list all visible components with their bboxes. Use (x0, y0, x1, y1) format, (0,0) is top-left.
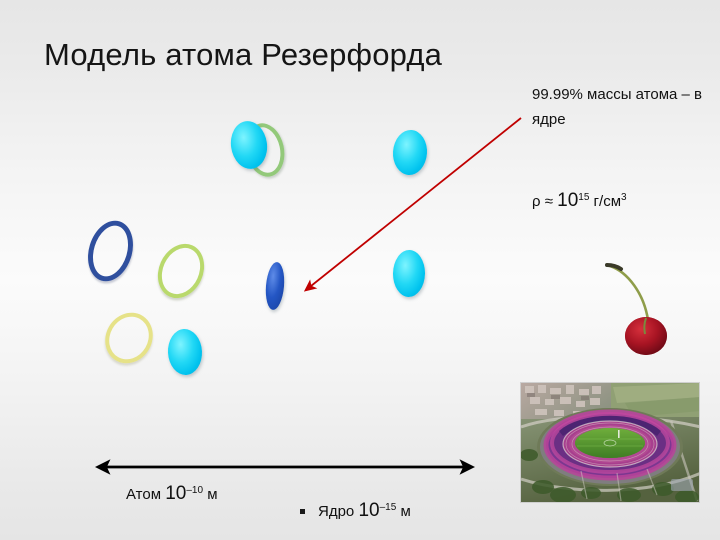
atom-size-label: Атом 10–10 м (126, 483, 218, 505)
slide-canvas: Модель атома Резерфорда (0, 0, 720, 540)
density-base: 10 (557, 190, 578, 211)
density-units-exponent: 3 (621, 192, 627, 203)
electron-blob-4 (167, 328, 203, 376)
pointer-arrow (285, 105, 535, 305)
atom-exponent: –10 (186, 485, 203, 496)
electron-ring-3 (150, 236, 213, 305)
nucleus-label-word: Ядро (318, 503, 354, 520)
atom-base: 10 (165, 483, 186, 504)
density-units: г/см (589, 193, 621, 210)
atom-units: м (203, 486, 217, 503)
page-title: Модель атома Резерфорда (44, 36, 442, 74)
electron-ring-4 (96, 304, 162, 372)
electron-ring-2 (81, 215, 140, 287)
density-symbol: ρ (532, 193, 541, 210)
cherry-image (588, 248, 698, 358)
atom-size-arrow (80, 455, 490, 481)
stadium-aerial-photo (520, 382, 700, 503)
density-formula: ρ ≈ 1015 г/см3 (532, 190, 627, 212)
nucleus-sliver (264, 261, 286, 310)
nucleus-bullet-icon (300, 509, 305, 514)
mass-note-text: 99.99% массы атома – в ядре (532, 82, 712, 132)
atom-label-word: Атом (126, 486, 161, 503)
nucleus-base: 10 (358, 500, 379, 521)
nucleus-size-label: Ядро 10–15 м (318, 500, 411, 522)
density-exponent: 15 (578, 192, 589, 203)
nucleus-units: м (396, 503, 410, 520)
nucleus-exponent: –15 (380, 502, 397, 513)
density-approx: ≈ (545, 193, 553, 210)
